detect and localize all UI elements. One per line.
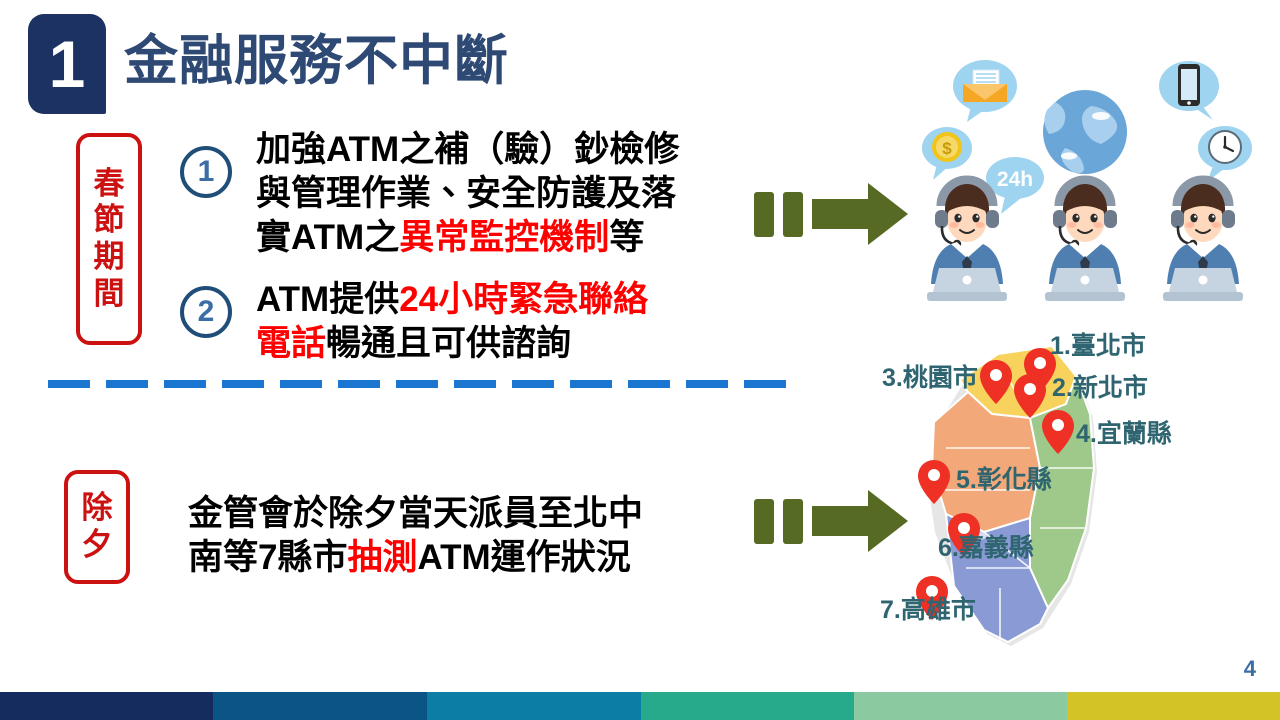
item-text-line: 加強ATM之補（驗）鈔檢修 [256, 128, 756, 172]
page-number: 4 [1244, 656, 1256, 682]
agent-avatar [1163, 180, 1243, 301]
bar-segment [213, 692, 427, 720]
agent-avatar [927, 180, 1007, 301]
arrow-dash [783, 499, 803, 544]
item-number-circle-2: 2 [180, 286, 232, 338]
arrow-dash [754, 192, 774, 237]
arrow-head-icon [812, 183, 908, 245]
map-label-changhua: 5.彰化縣 [956, 460, 1052, 496]
bubble-coin-icon: $ [922, 127, 972, 180]
text-run-highlight: 異常監控機制 [399, 218, 609, 257]
tag-char: 間 [94, 276, 125, 313]
item-text-line: 金管會於除夕當天派員至北中 [188, 492, 728, 536]
bar-segment [427, 692, 641, 720]
tag-char: 春 [94, 166, 125, 203]
item-text-1: 加強ATM之補（驗）鈔檢修 與管理作業、安全防護及落 實ATM之異常監控機制等 [256, 128, 756, 260]
slide-canvas: 1 金融服務不中斷 春 節 期 間 1 加強ATM之補（驗）鈔檢修 與管理作業、… [0, 0, 1280, 720]
map-label-taipei: 1.臺北市 [1050, 326, 1146, 362]
bubble-email-icon [953, 60, 1017, 122]
bar-segment [1067, 692, 1280, 720]
bubble-24h-label: 24h [997, 168, 1033, 191]
slide-header: 1 金融服務不中斷 [28, 14, 509, 114]
bar-segment [854, 692, 1067, 720]
bottom-color-bar [0, 692, 1280, 720]
text-run: 加強ATM之補（驗）鈔檢修 [256, 130, 679, 169]
tag-char: 除 [82, 490, 113, 527]
page-title: 金融服務不中斷 [124, 34, 509, 94]
dashed-divider [48, 380, 790, 388]
bar-segment [0, 692, 213, 720]
section-number-badge: 1 [28, 14, 106, 114]
bubble-clock-icon [1198, 126, 1252, 182]
globe-icon [1043, 90, 1127, 174]
text-run: 與管理作業、安全防護及落 [256, 174, 676, 213]
taiwan-map-illustration: 1.臺北市 2.新北市 3.桃園市 4.宜蘭縣 5.彰化縣 6.嘉義縣 7.高雄… [880, 318, 1280, 658]
tag-char: 夕 [82, 527, 113, 564]
arrow-to-illustration [754, 183, 908, 245]
section-2-text: 金管會於除夕當天派員至北中 南等7縣市抽測ATM運作狀況 [188, 492, 728, 580]
map-label-kaohsiung: 7.高雄市 [880, 590, 976, 626]
arrow-dash [754, 499, 774, 544]
map-label-chiayi: 6.嘉義縣 [938, 528, 1034, 564]
text-run: 實ATM之 [256, 218, 399, 257]
bubble-smartphone-icon [1159, 61, 1219, 120]
item-text-line: 南等7縣市抽測ATM運作狀況 [188, 536, 728, 580]
customer-service-illustration: $ 24h [905, 44, 1265, 309]
item-text-line: 電話暢通且可供諮詢 [256, 322, 756, 366]
tag-box-new-years-eve: 除 夕 [64, 470, 130, 584]
text-run: 金管會於除夕當天派員至北中 [188, 494, 643, 533]
item-text-line: 與管理作業、安全防護及落 [256, 172, 756, 216]
text-run: 暢通且可供諮詢 [326, 324, 571, 363]
text-run-highlight: 24小時緊急聯絡 [399, 280, 648, 319]
agent-avatar [1045, 180, 1125, 301]
text-run: 等 [609, 218, 644, 257]
item-text-line: ATM提供24小時緊急聯絡 [256, 278, 756, 322]
text-run-highlight: 抽測 [347, 538, 417, 577]
tag-char: 節 [94, 202, 125, 239]
tag-char: 期 [94, 239, 125, 276]
item-text-2: ATM提供24小時緊急聯絡 電話暢通且可供諮詢 [256, 278, 756, 366]
text-run: ATM運作狀況 [417, 538, 630, 577]
bar-segment [641, 692, 854, 720]
map-label-newtaipei: 2.新北市 [1052, 368, 1148, 404]
item-text-line: 實ATM之異常監控機制等 [256, 216, 756, 260]
tag-box-spring-festival: 春 節 期 間 [76, 133, 142, 345]
text-run: ATM提供 [256, 280, 399, 319]
map-label-yilan: 4.宜蘭縣 [1076, 414, 1172, 450]
map-label-taoyuan: 3.桃園市 [882, 358, 978, 394]
arrow-dash [783, 192, 803, 237]
svg-text:$: $ [942, 139, 952, 158]
text-run-highlight: 電話 [256, 324, 326, 363]
text-run: 南等7縣市 [188, 538, 347, 577]
item-number-circle-1: 1 [180, 146, 232, 198]
